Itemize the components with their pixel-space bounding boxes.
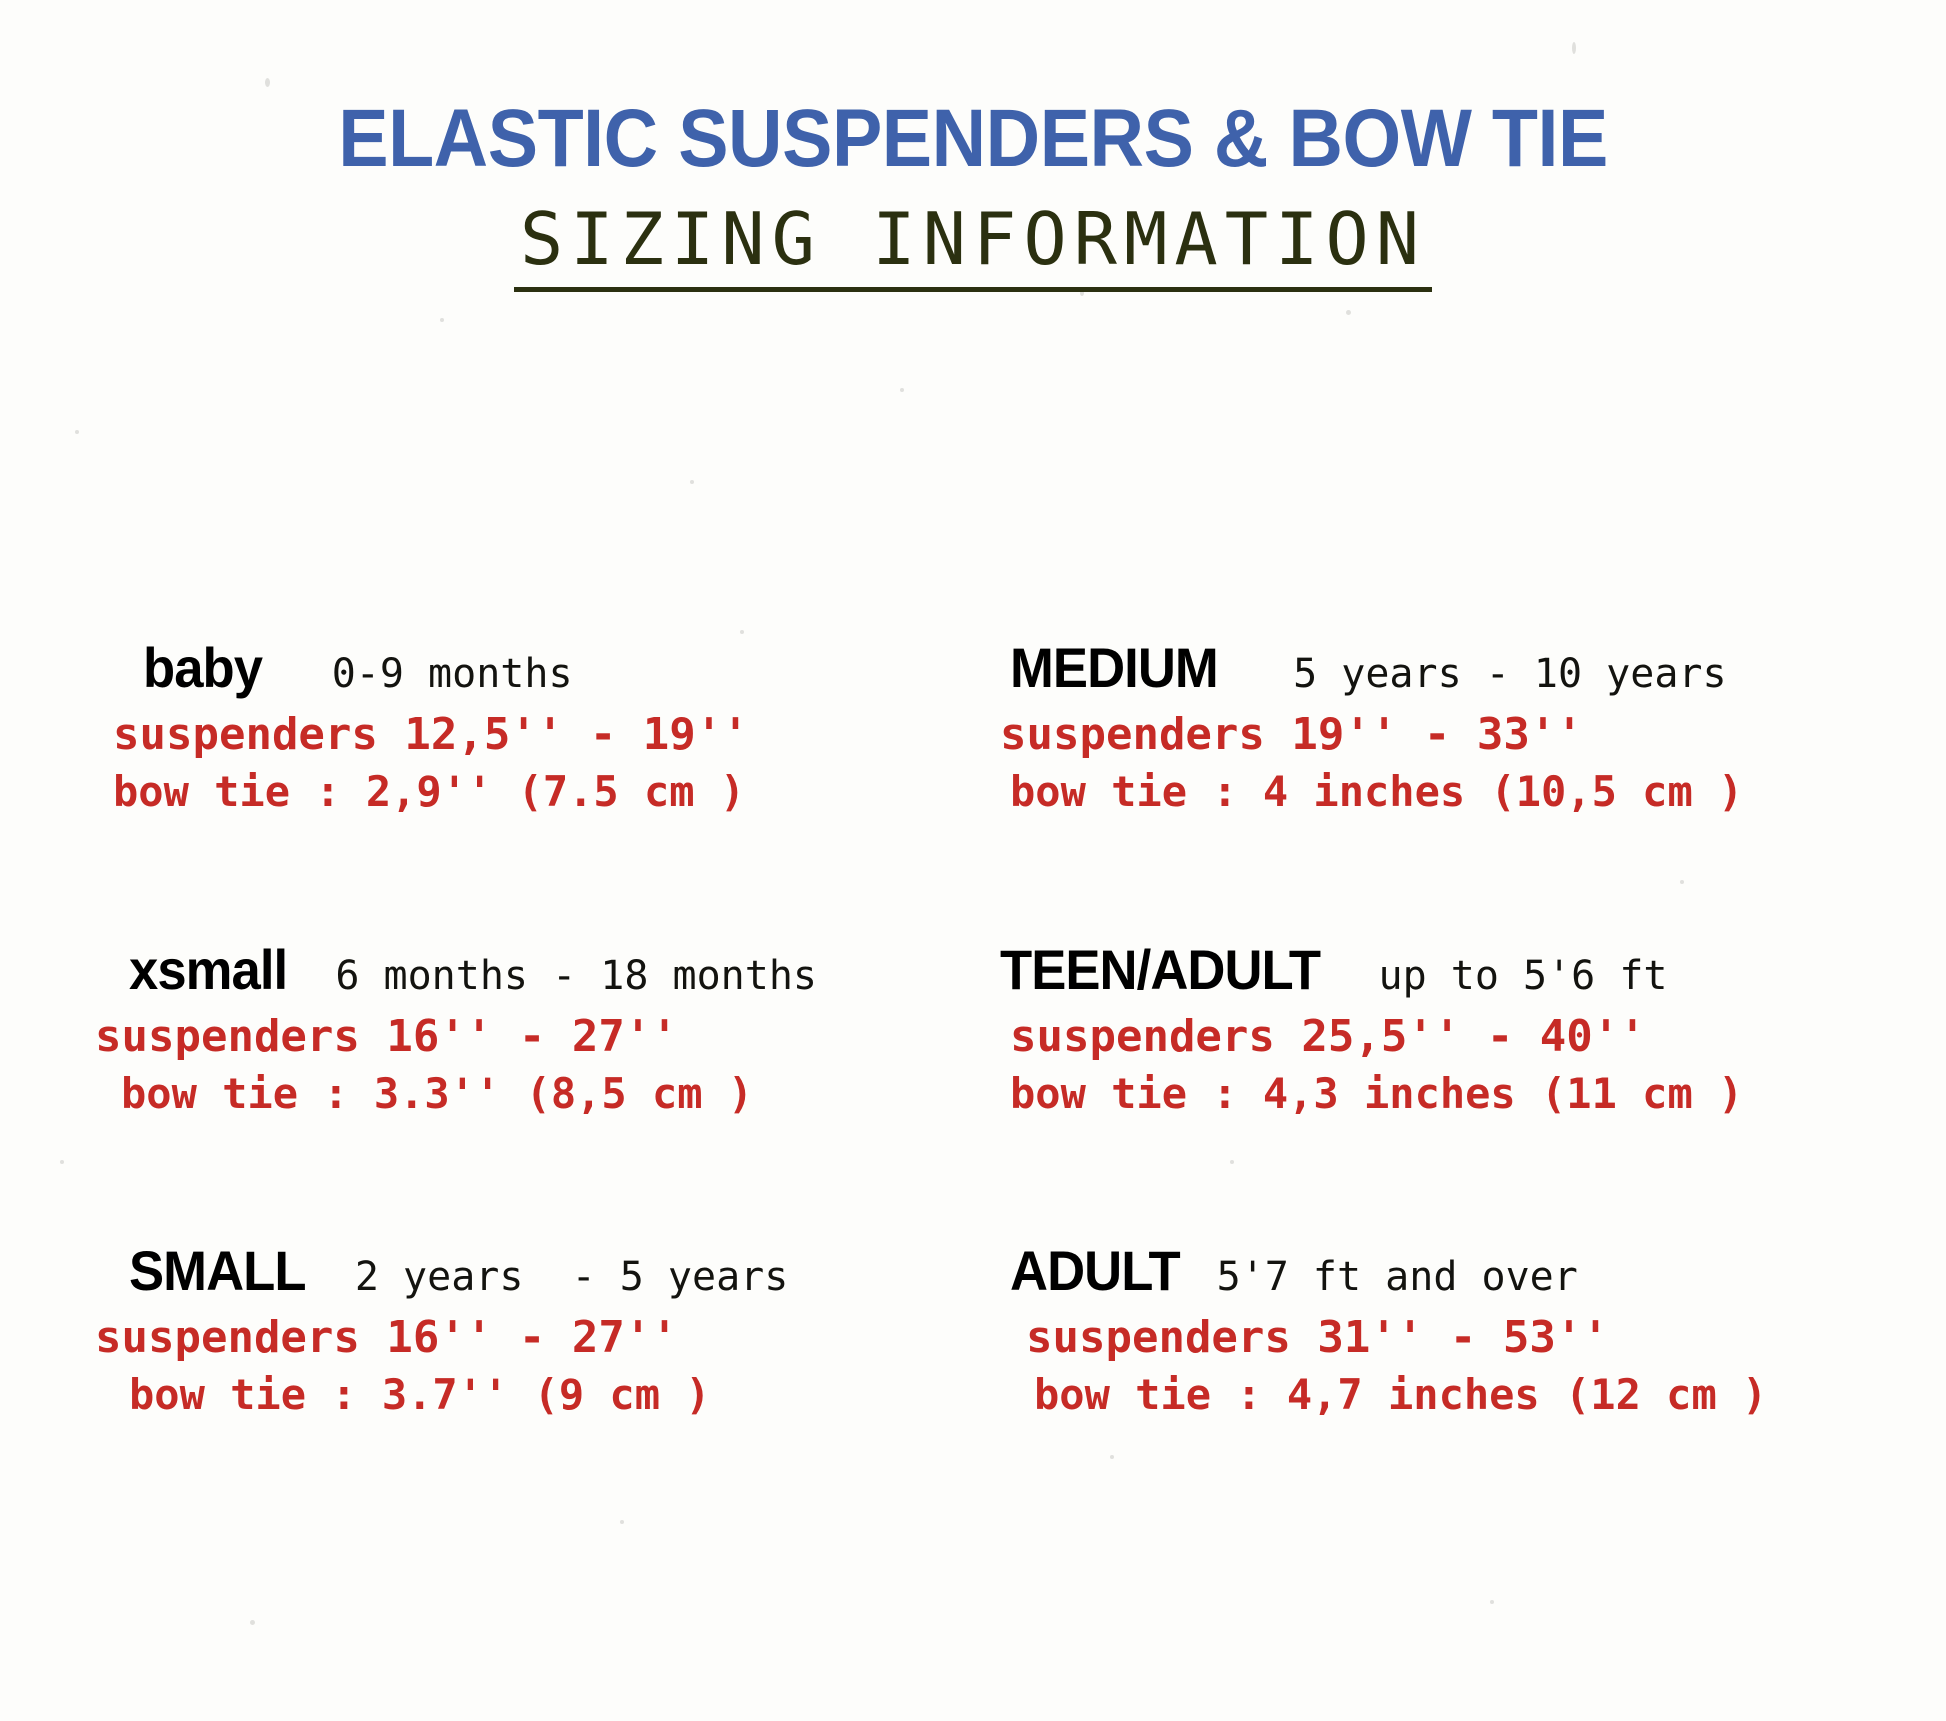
size-name: xsmall [129, 942, 287, 998]
size-column-right: MEDIUM 5 years - 10 years suspenders 19'… [1000, 640, 1840, 1423]
scan-speck [440, 318, 444, 322]
age-range: 5 years - 10 years [1293, 654, 1726, 694]
size-header-row: TEEN/ADULT up to 5'6 ft [1000, 942, 1840, 998]
size-name: SMALL [129, 1243, 306, 1299]
scan-speck [75, 430, 79, 434]
scan-speck [1490, 1600, 1494, 1604]
scan-speck [250, 1620, 255, 1625]
bow-tie-measurement: bow tie : 4,3 inches (11 cm ) [1000, 1066, 1840, 1121]
scan-speck [900, 388, 904, 392]
scan-speck [265, 78, 270, 87]
size-header-row: ADULT 5'7 ft and over [1000, 1243, 1840, 1299]
size-header-row: SMALL 2 years - 5 years [95, 1243, 935, 1299]
size-block-teen-adult: TEEN/ADULT up to 5'6 ft suspenders 25,5'… [1000, 942, 1840, 1122]
suspenders-measurement: suspenders 16'' - 27'' [95, 1008, 935, 1066]
size-block-baby: baby 0-9 months suspenders 12,5'' - 19''… [95, 640, 935, 820]
page-subtitle: SIZING INFORMATION [514, 198, 1432, 292]
size-header-row: baby 0-9 months [95, 640, 935, 696]
suspenders-measurement: suspenders 25,5'' - 40'' [1000, 1008, 1840, 1066]
age-range: 6 months - 18 months [335, 956, 817, 996]
size-name: ADULT [1010, 1243, 1180, 1299]
size-column-left: baby 0-9 months suspenders 12,5'' - 19''… [95, 640, 935, 1423]
scan-speck [690, 480, 694, 484]
page-title: ELASTIC SUSPENDERS & BOW TIE [338, 96, 1608, 182]
suspenders-measurement: suspenders 16'' - 27'' [95, 1309, 935, 1367]
suspenders-measurement: suspenders 12,5'' - 19'' [95, 706, 935, 764]
scan-speck [1110, 1455, 1114, 1459]
scan-speck [740, 630, 744, 634]
sizing-chart-page: ELASTIC SUSPENDERS & BOW TIE SIZING INFO… [0, 0, 1946, 1721]
bow-tie-measurement: bow tie : 3.7'' (9 cm ) [95, 1367, 935, 1422]
size-name: TEEN/ADULT [1000, 942, 1320, 998]
size-block-adult: ADULT 5'7 ft and over suspenders 31'' - … [1000, 1243, 1840, 1423]
bow-tie-measurement: bow tie : 4,7 inches (12 cm ) [1000, 1367, 1840, 1422]
suspenders-measurement: suspenders 19'' - 33'' [1000, 706, 1840, 764]
age-range: up to 5'6 ft [1379, 956, 1668, 996]
size-block-medium: MEDIUM 5 years - 10 years suspenders 19'… [1000, 640, 1840, 820]
bow-tie-measurement: bow tie : 4 inches (10,5 cm ) [1000, 764, 1840, 819]
bow-tie-measurement: bow tie : 2,9'' (7.5 cm ) [95, 764, 935, 819]
size-block-xsmall: xsmall 6 months - 18 months suspenders 1… [95, 942, 935, 1122]
page-subtitle-container: SIZING INFORMATION [0, 198, 1946, 292]
size-header-row: MEDIUM 5 years - 10 years [1000, 640, 1840, 696]
size-header-row: xsmall 6 months - 18 months [95, 942, 935, 998]
scan-speck [60, 1160, 64, 1164]
bow-tie-measurement: bow tie : 3.3'' (8,5 cm ) [95, 1066, 935, 1121]
size-name: MEDIUM [1010, 640, 1218, 696]
scan-speck [1572, 42, 1576, 54]
scan-speck [1346, 310, 1351, 315]
scan-speck [620, 1520, 624, 1524]
page-title-container: ELASTIC SUSPENDERS & BOW TIE [0, 96, 1946, 182]
age-range: 5'7 ft and over [1217, 1257, 1578, 1297]
size-name: baby [143, 640, 262, 696]
age-range: 2 years - 5 years [355, 1257, 788, 1297]
size-block-small: SMALL 2 years - 5 years suspenders 16'' … [95, 1243, 935, 1423]
age-range: 0-9 months [332, 654, 573, 694]
suspenders-measurement: suspenders 31'' - 53'' [1000, 1309, 1840, 1367]
